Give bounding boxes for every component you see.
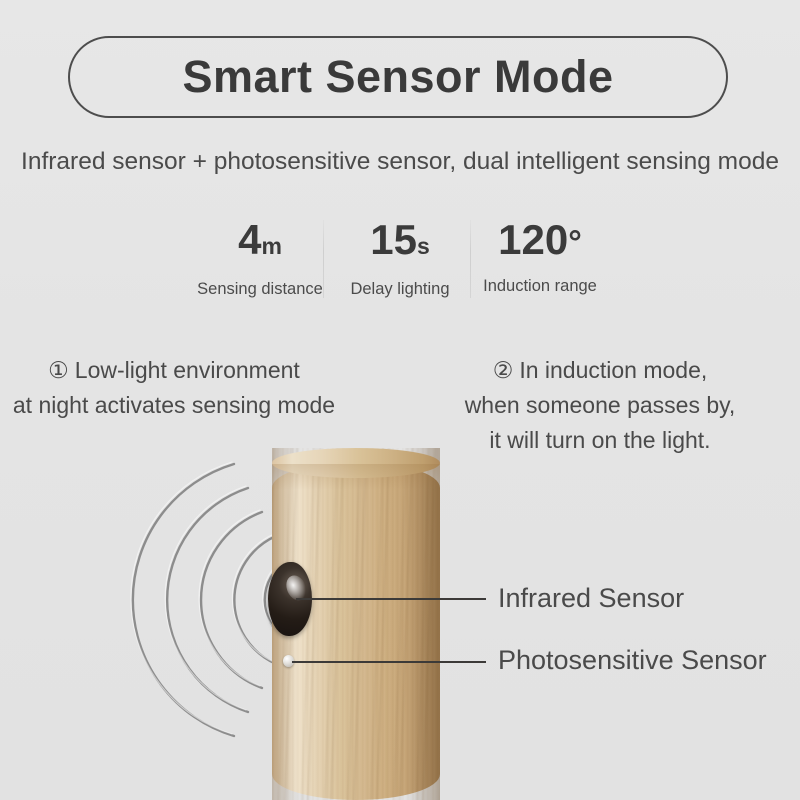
spec-label: Induction range bbox=[470, 277, 610, 296]
note-text: Low-light environment bbox=[75, 357, 300, 383]
leader-line-photosensitive bbox=[292, 661, 486, 663]
cylinder-top-shading bbox=[272, 464, 440, 490]
spec-sensing-distance: 4m Sensing distance bbox=[190, 214, 330, 299]
spec-unit: m bbox=[261, 233, 281, 259]
spec-value: 4m bbox=[190, 214, 330, 272]
spec-value: 15s bbox=[330, 214, 470, 272]
spec-unit: s bbox=[417, 233, 430, 259]
spec-induction-range: 120° Induction range bbox=[470, 214, 610, 296]
leader-line-infrared bbox=[296, 598, 486, 600]
spec-divider bbox=[470, 220, 471, 298]
page-title: Smart Sensor Mode bbox=[68, 36, 728, 118]
spec-delay-lighting: 15s Delay lighting bbox=[330, 214, 470, 299]
spec-value: 120° bbox=[470, 214, 610, 269]
note-line: ①Low-light environment bbox=[0, 353, 364, 388]
note-marker-2: ② bbox=[493, 357, 514, 383]
spec-label: Delay lighting bbox=[330, 280, 470, 299]
note-line: it will turn on the light. bbox=[430, 423, 770, 458]
infographic-canvas: Smart Sensor Mode Infrared sensor + phot… bbox=[0, 0, 800, 800]
callout-label-photosensitive: Photosensitive Sensor bbox=[498, 645, 767, 676]
note-line: ②In induction mode, bbox=[430, 353, 770, 388]
subtitle: Infrared sensor + photosensitive sensor,… bbox=[0, 148, 800, 176]
note-line: when someone passes by, bbox=[430, 388, 770, 423]
note-text: In induction mode, bbox=[519, 357, 707, 383]
note-marker-1: ① bbox=[48, 357, 69, 383]
note-induction-mode: ②In induction mode, when someone passes … bbox=[430, 353, 770, 458]
spec-row: 4m Sensing distance 15s Delay lighting 1… bbox=[190, 214, 610, 306]
note-line: at night activates sensing mode bbox=[0, 388, 364, 423]
note-low-light: ①Low-light environment at night activate… bbox=[0, 353, 364, 423]
spec-label: Sensing distance bbox=[190, 280, 330, 299]
spec-divider bbox=[323, 220, 324, 298]
callout-label-infrared: Infrared Sensor bbox=[498, 583, 684, 614]
spec-unit: ° bbox=[568, 224, 582, 262]
cylinder-right-shading bbox=[406, 448, 440, 800]
